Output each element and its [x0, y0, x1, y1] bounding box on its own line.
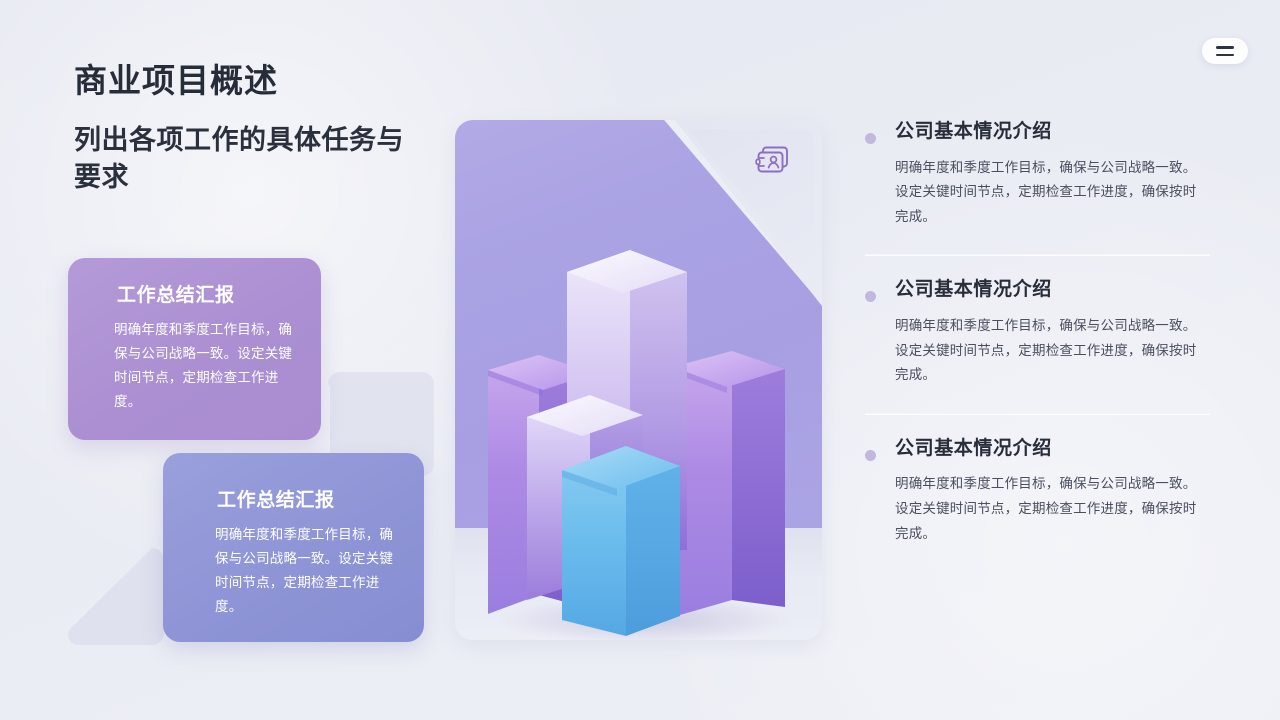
- info-card-2-body: 明确年度和季度工作目标，确保与公司战略一致。设定关键时间节点，定期检查工作进度。: [189, 523, 398, 619]
- info-card-2[interactable]: 工作总结汇报 明确年度和季度工作目标，确保与公司战略一致。设定关键时间节点，定期…: [163, 453, 424, 642]
- bullet-dot-icon: [865, 450, 876, 461]
- list-item-body: 明确年度和季度工作目标，确保与公司战略一致。设定关键时间节点，定期检查工作进度，…: [895, 314, 1210, 388]
- page-subtitle: 列出各项工作的具体任务与要求: [74, 122, 414, 197]
- list-divider: [865, 413, 1210, 414]
- slide-canvas: 商业项目概述 列出各项工作的具体任务与要求 工作总结汇报 明确年度和季度工作目标…: [0, 0, 1280, 720]
- list-item-title: 公司基本情况介绍: [895, 278, 1210, 303]
- list-item[interactable]: 公司基本情况介绍 明确年度和季度工作目标，确保与公司战略一致。设定关键时间节点，…: [862, 278, 1210, 387]
- info-card-1-body: 明确年度和季度工作目标，确保与公司战略一致。设定关键时间节点，定期检查工作进度。: [94, 318, 295, 414]
- bullet-dot-icon: [865, 291, 876, 302]
- bar-chart-3d: [455, 120, 822, 640]
- list-divider: [865, 254, 1210, 255]
- info-card-1-title: 工作总结汇报: [94, 280, 295, 307]
- illustration-card: [455, 120, 822, 640]
- hamburger-icon-line-1: [1216, 46, 1234, 49]
- list-item[interactable]: 公司基本情况介绍 明确年度和季度工作目标，确保与公司战略一致。设定关键时间节点，…: [862, 120, 1210, 229]
- list-item-title: 公司基本情况介绍: [895, 120, 1210, 145]
- hamburger-menu-button[interactable]: [1202, 38, 1248, 64]
- list-item-body: 明确年度和季度工作目标，确保与公司战略一致。设定关键时间节点，定期检查工作进度，…: [895, 156, 1210, 230]
- list-item[interactable]: 公司基本情况介绍 明确年度和季度工作目标，确保与公司战略一致。设定关键时间节点，…: [862, 437, 1210, 546]
- list-item-body: 明确年度和季度工作目标，确保与公司战略一致。设定关键时间节点，定期检查工作进度，…: [895, 472, 1210, 546]
- info-card-2-title: 工作总结汇报: [189, 475, 398, 512]
- bullet-dot-icon: [865, 133, 876, 144]
- right-content-list: 公司基本情况介绍 明确年度和季度工作目标，确保与公司战略一致。设定关键时间节点，…: [862, 120, 1210, 546]
- list-item-title: 公司基本情况介绍: [895, 437, 1210, 462]
- page-title: 商业项目概述: [74, 54, 278, 102]
- decorative-triangle-lower: [66, 548, 164, 645]
- hamburger-icon-line-2: [1216, 54, 1234, 57]
- info-card-1[interactable]: 工作总结汇报 明确年度和季度工作目标，确保与公司战略一致。设定关键时间节点，定期…: [68, 258, 321, 440]
